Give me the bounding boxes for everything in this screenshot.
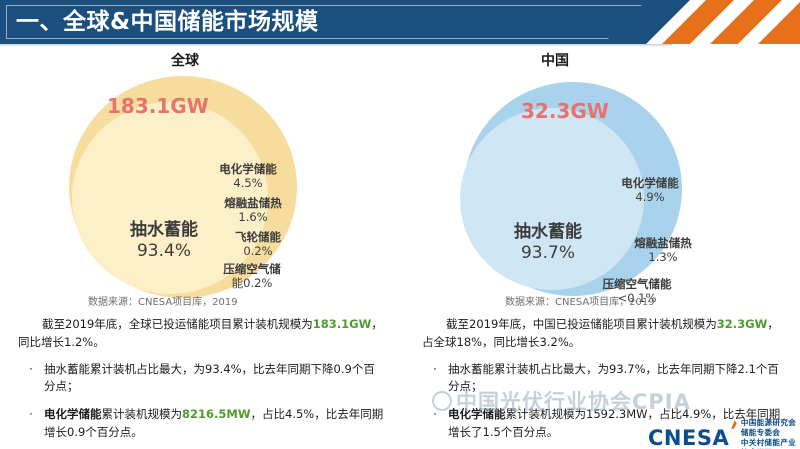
segment-name: 熔融盐储热 [205, 197, 301, 211]
panel-global: 全球 183.1GW 抽水蓄能 93.4% 电化学储能 4.5% 熔融盐储热 1… [0, 44, 400, 449]
paragraph-highlight: 32.3GW [717, 317, 768, 331]
bullet-item: · 抽水蓄能累计装机占比最大，为93.4%，比去年同期下降0.9个百分点； [18, 361, 384, 397]
segment-label-china-2: 熔融盐储热 1.3% [613, 237, 713, 264]
center-label-percent-china: 93.7% [488, 243, 608, 264]
body-copy-global: 截至2019年底，全球已投运储能项目累计装机规模为183.1GW，同比增长1.2… [18, 316, 384, 449]
cnesa-logo-wordmark: CNESA [648, 428, 729, 449]
center-label-percent-global: 93.4% [104, 241, 224, 262]
total-value-china: 32.3GW [521, 99, 609, 123]
segment-label-china-1: 电化学储能 4.9% [600, 177, 700, 204]
segment-name: 熔融盐储热 [613, 237, 713, 251]
cnesa-logo-mark-icon [731, 420, 737, 429]
segment-label-global-2: 熔融盐储热 1.6% [205, 197, 301, 224]
cnesa-logo-line1: 中国能源研究会储能专委会 [741, 418, 796, 437]
bullet-lead: 电化学储能 [448, 407, 506, 421]
bullet-lead: 电化学储能 [44, 407, 102, 421]
cnesa-logo-line2: 中关村储能产业技术联盟 [741, 438, 796, 449]
segment-percent: 0.2% [210, 245, 306, 259]
bullet-pre: 累计装机规模为 [102, 407, 183, 421]
bullet-highlight: 8216.5MW [182, 407, 251, 421]
bullet-pre: 抽水蓄能累计装机占比最大，为93.7%，比去年同期下降2.1个百分点； [448, 362, 779, 394]
source-note-global: 数据来源：CNESA项目库，2019 [88, 293, 238, 308]
bullet-marker: · [422, 406, 448, 442]
source-note-china: 数据来源：CNESA项目库，2019 [505, 293, 655, 308]
bullet-marker: · [18, 406, 44, 442]
segment-label-global-4: 压缩空气储 能0.2% [203, 263, 301, 290]
segment-label-global-3: 飞轮储能 0.2% [210, 231, 306, 258]
segment-name: 压缩空气储 [203, 263, 301, 277]
segment-percent: 能0.2% [203, 277, 301, 291]
segment-label-global-1: 电化学储能 4.5% [200, 163, 296, 190]
total-value-global: 183.1GW [107, 94, 209, 118]
bullet-text: 抽水蓄能累计装机占比最大，为93.4%，比去年同期下降0.9个百分点； [44, 361, 384, 397]
bullet-marker: · [18, 361, 44, 397]
slide-root: 一、全球&中国储能市场规模 全球 183.1GW 抽水蓄能 93.4% 电化学储… [0, 0, 800, 449]
segment-percent: 4.5% [200, 177, 296, 191]
bullet-item: · 电化学储能累计装机规模为8216.5MW，占比4.5%，比去年同期增长0.9… [18, 406, 384, 442]
center-label-name-china: 抽水蓄能 [488, 222, 608, 243]
segment-percent: 1.6% [205, 211, 301, 225]
paragraph-pre: 截至2019年底，全球已投运储能项目累计装机规模为 [42, 317, 313, 331]
summary-paragraph-china: 截至2019年底，中国已投运储能项目累计装机规模为32.3GW，占全球18%，同… [422, 316, 788, 352]
segment-percent: 1.3% [613, 251, 713, 265]
segment-name: 电化学储能 [600, 177, 700, 191]
summary-paragraph-global: 截至2019年底，全球已投运储能项目累计装机规模为183.1GW，同比增长1.2… [18, 316, 384, 352]
paragraph-highlight: 183.1GW [313, 317, 372, 331]
panel-china: 中国 32.3GW 抽水蓄能 93.7% 电化学储能 4.9% 熔融盐储热 1.… [400, 44, 800, 449]
segment-name: 飞轮储能 [210, 231, 306, 245]
chart-china: 32.3GW 抽水蓄能 93.7% 电化学储能 4.9% 熔融盐储热 1.3% … [400, 44, 800, 302]
center-label-china: 抽水蓄能 93.7% [488, 222, 608, 263]
bullet-item: · 抽水蓄能累计装机占比最大，为93.7%，比去年同期下降2.1个百分点； [422, 361, 788, 397]
chart-global: 183.1GW 抽水蓄能 93.4% 电化学储能 4.5% 熔融盐储热 1.6%… [0, 44, 400, 302]
bullet-pre: 抽水蓄能累计装机占比最大，为93.4%，比去年同期下降0.9个百分点； [44, 362, 375, 394]
bullet-text: 抽水蓄能累计装机占比最大，为93.7%，比去年同期下降2.1个百分点； [448, 361, 788, 397]
cnesa-logo: CNESA 中国能源研究会储能专委会 中关村储能产业技术联盟 [648, 418, 800, 449]
bullet-marker: · [422, 361, 448, 397]
segment-percent: 4.9% [600, 191, 700, 205]
center-label-global: 抽水蓄能 93.4% [104, 220, 224, 261]
slide-header: 一、全球&中国储能市场规模 [0, 0, 800, 44]
paragraph-pre: 截至2019年底，中国已投运储能项目累计装机规模为 [446, 317, 717, 331]
bullet-text: 电化学储能累计装机规模为8216.5MW，占比4.5%，比去年同期增长0.9个百… [44, 406, 384, 442]
page-title: 一、全球&中国储能市场规模 [16, 7, 319, 37]
cnesa-logo-subtitle: 中国能源研究会储能专委会 中关村储能产业技术联盟 [741, 418, 800, 449]
segment-name: 电化学储能 [200, 163, 296, 177]
segment-name: 压缩空气储能 [576, 278, 698, 292]
